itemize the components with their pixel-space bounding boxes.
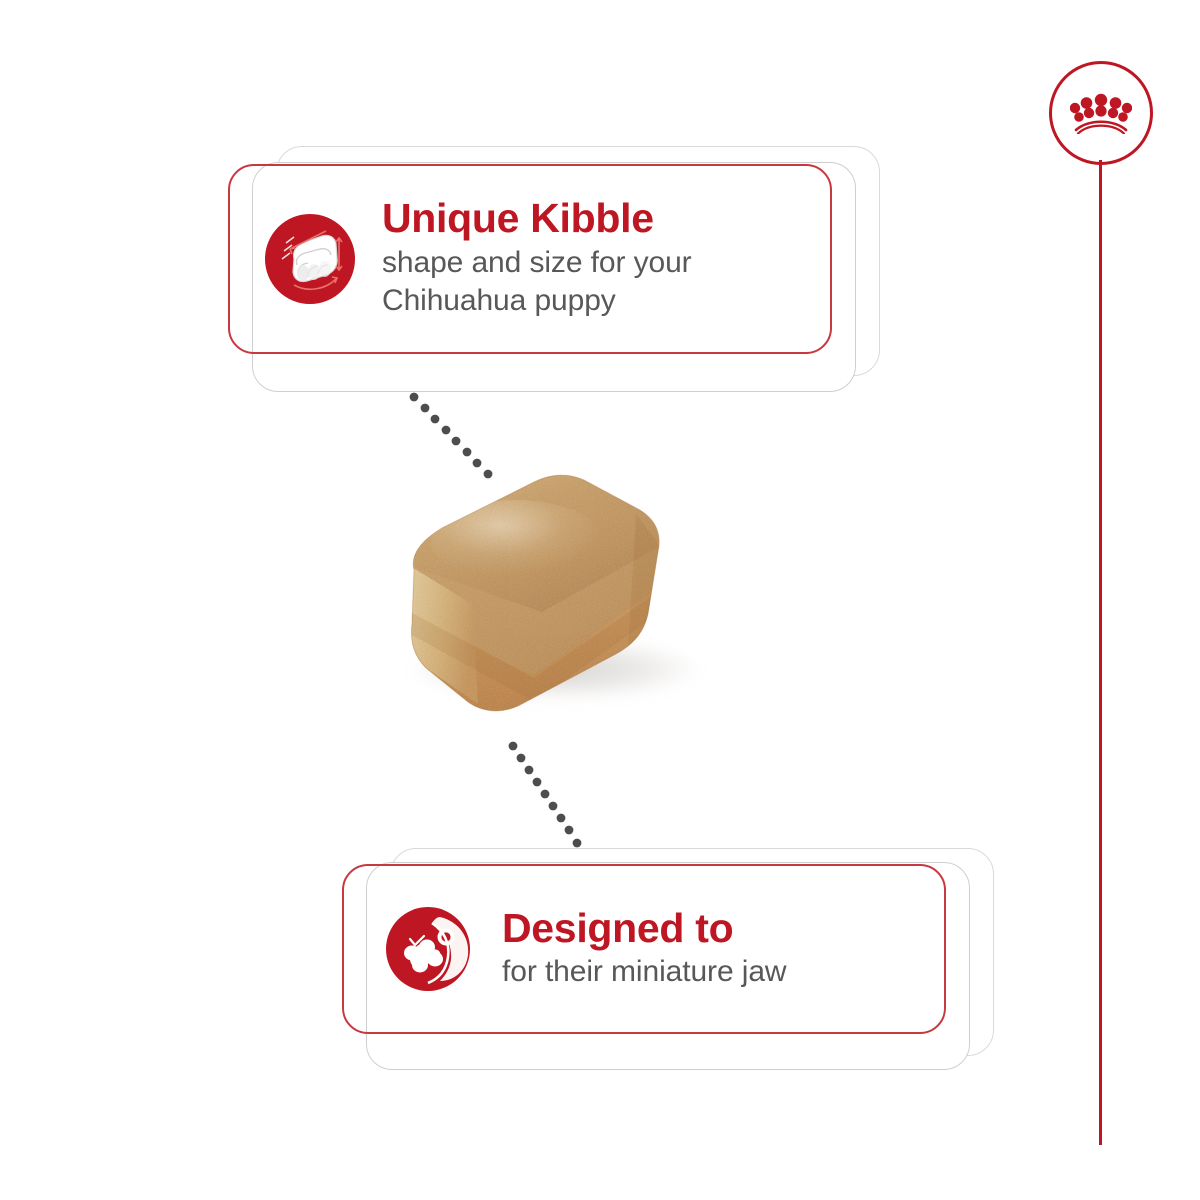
card-content-designed-to: Designed to for their miniature jaw: [342, 864, 946, 1034]
card-subtitle: shape and size for your Chihuahua puppy: [382, 241, 802, 321]
kibble-illustration: [352, 462, 712, 732]
card-title: Unique Kibble: [382, 197, 802, 240]
kibble-measurement-icon: [264, 213, 356, 305]
card-subtitle-line1: shape and size for your: [382, 244, 802, 282]
kibble-photo: [352, 462, 712, 732]
card-title: Designed to: [502, 907, 926, 950]
feature-card-unique-kibble: Unique Kibble shape and size for your Ch…: [228, 146, 888, 388]
card-subtitle: for their miniature jaw: [502, 950, 926, 991]
logo-stem-line: [1099, 160, 1102, 1145]
feature-card-designed-to: Designed to for their miniature jaw: [342, 848, 1002, 1066]
promo-canvas: Unique Kibble shape and size for your Ch…: [0, 0, 1200, 1200]
connector-bottom: [509, 742, 582, 848]
crown-icon: [1070, 92, 1132, 134]
card-content-unique-kibble: Unique Kibble shape and size for your Ch…: [228, 164, 832, 354]
dog-jaw-icon: [382, 903, 474, 995]
card-text-designed-to: Designed to for their miniature jaw: [474, 907, 926, 992]
card-subtitle-line1: for their miniature jaw: [502, 953, 926, 991]
card-text-unique-kibble: Unique Kibble shape and size for your Ch…: [356, 197, 802, 320]
card-subtitle-line2: Chihuahua puppy: [382, 282, 802, 320]
royal-canin-crown-logo: [1049, 61, 1153, 165]
